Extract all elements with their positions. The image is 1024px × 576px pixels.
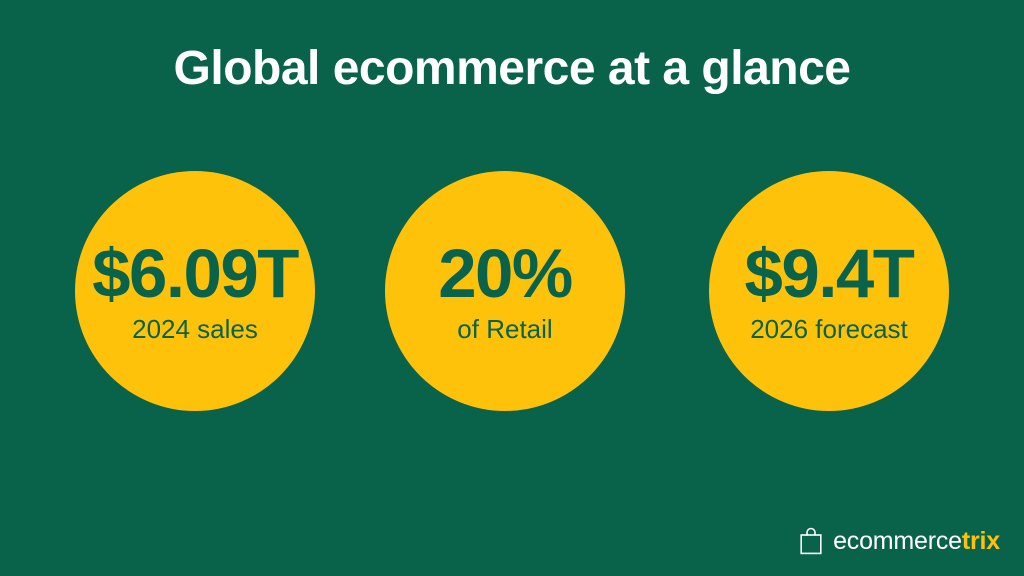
stat-label: 2024 sales — [132, 314, 258, 344]
stat-card-2024-sales: $6.09T 2024 sales — [75, 171, 315, 411]
shopping-bag-icon — [798, 526, 824, 556]
logo-text-primary: ecommerce — [833, 527, 962, 555]
page-title: Global ecommerce at a glance — [0, 40, 1024, 98]
stat-card-2026-forecast: $9.4T 2026 forecast — [709, 171, 949, 411]
stat-card-of-retail: 20% of Retail — [385, 171, 625, 411]
logo-text-accent: trix — [962, 527, 1000, 555]
stat-label: of Retail — [457, 314, 552, 344]
infographic-canvas: Global ecommerce at a glance $6.09T 2024… — [0, 0, 1024, 576]
stat-value: $9.4T — [745, 238, 914, 310]
stat-text-group: $6.09T 2024 sales — [35, 171, 355, 411]
stat-text-group: 20% of Retail — [345, 171, 665, 411]
stats-row: $6.09T 2024 sales 20% of Retail $9.4T 20… — [0, 171, 1024, 411]
stat-value: 20% — [438, 238, 572, 310]
stat-label: 2026 forecast — [750, 314, 908, 344]
logo-wordmark: ecommercetrix — [833, 526, 1000, 556]
stat-text-group: $9.4T 2026 forecast — [669, 171, 989, 411]
brand-logo: ecommercetrix — [798, 524, 1000, 558]
stat-value: $6.09T — [92, 238, 298, 310]
